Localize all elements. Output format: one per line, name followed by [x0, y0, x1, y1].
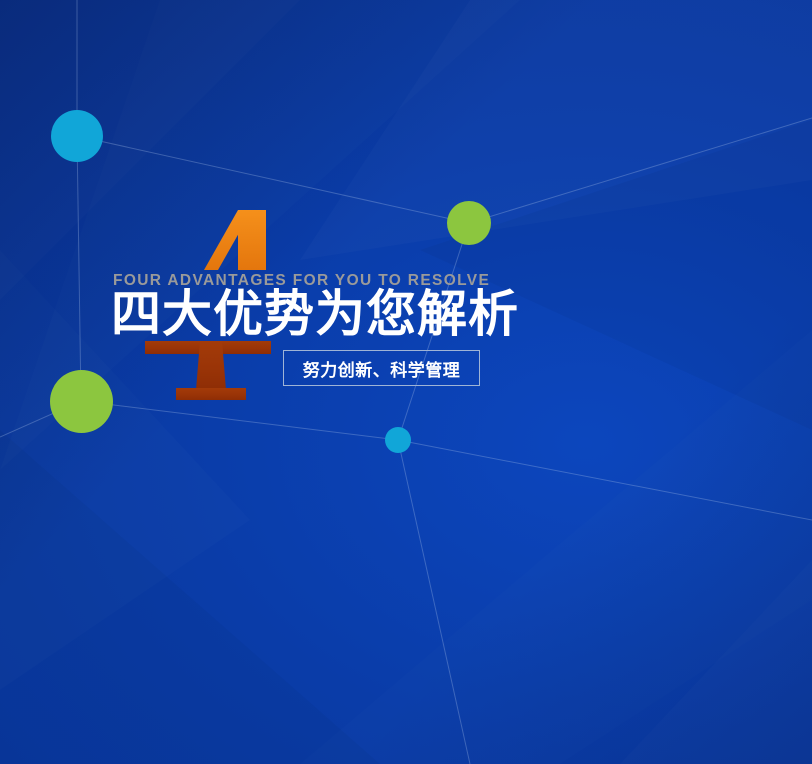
decor-node-green-right [447, 201, 491, 245]
numeral-four-top-stroke [204, 210, 266, 270]
decor-node-cyan-bottom [385, 427, 411, 453]
banner-canvas: FOUR ADVANTAGES FOR YOU TO RESOLVE 四大优势为… [0, 0, 812, 764]
tagline-box: 努力创新、科学管理 [283, 350, 480, 386]
page-title: 四大优势为您解析 [111, 288, 519, 340]
decor-node-green-bottom-left [50, 370, 113, 433]
decor-node-cyan-top-left [51, 110, 103, 162]
tagline-text: 努力创新、科学管理 [303, 356, 461, 381]
numeral-four-pedestal [145, 341, 271, 400]
